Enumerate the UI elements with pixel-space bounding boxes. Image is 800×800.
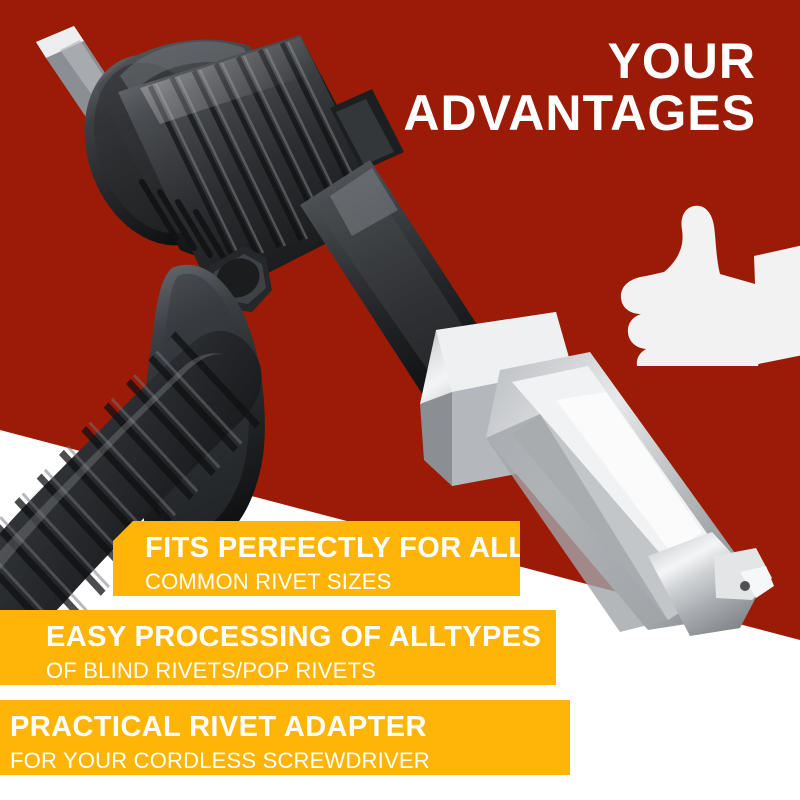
banner-title: EASY PROCESSING OF ALLTYPES xyxy=(46,623,556,652)
thumbs-up-icon xyxy=(608,178,800,368)
banner-subtitle: OF BLIND RIVETS/POP RIVETS xyxy=(46,660,556,682)
banner-subtitle: FOR YOUR CORDLESS SCREWDRIVER xyxy=(10,750,570,772)
page-title: YOUR ADVANTAGES xyxy=(403,38,756,137)
headline-line-1: YOUR xyxy=(403,38,756,86)
feature-banner-practical-adapter: PRACTICAL RIVET ADAPTER FOR YOUR CORDLES… xyxy=(0,700,570,775)
banner-title: PRACTICAL RIVET ADAPTER xyxy=(10,713,570,742)
headline-line-2: ADVANTAGES xyxy=(403,90,756,138)
advertisement-canvas: YOUR ADVANTAGES xyxy=(0,0,800,800)
banner-title: FITS PERFECTLY FOR ALL xyxy=(145,534,520,563)
feature-banner-fits-perfectly: FITS PERFECTLY FOR ALL COMMON RIVET SIZE… xyxy=(113,521,520,596)
banner-subtitle: COMMON RIVET SIZES xyxy=(145,571,520,593)
feature-banner-easy-processing: EASY PROCESSING OF ALLTYPES OF BLIND RIV… xyxy=(0,610,556,685)
